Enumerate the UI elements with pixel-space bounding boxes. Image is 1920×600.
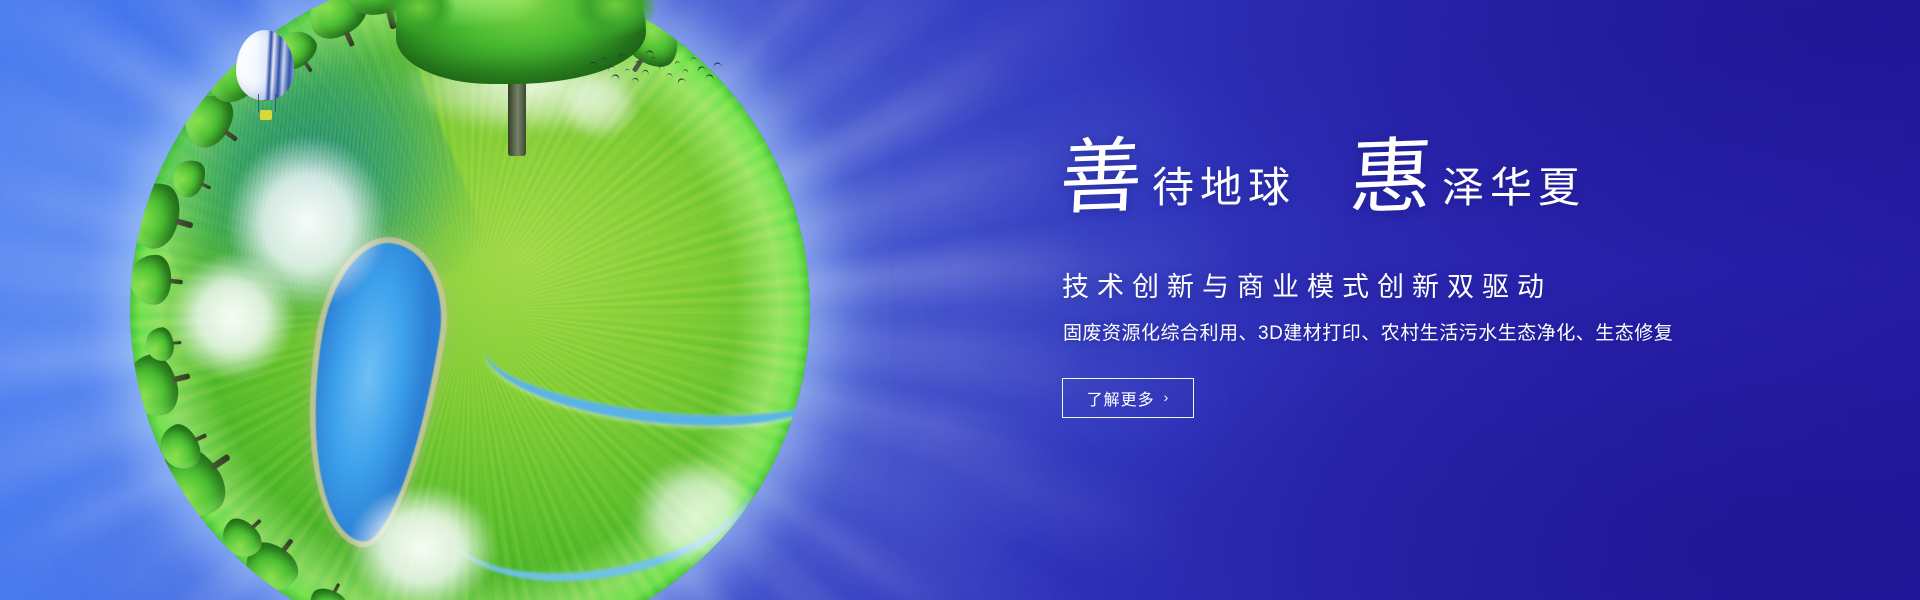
bird-icon bbox=[696, 65, 706, 74]
bird-flock-icon bbox=[588, 48, 718, 88]
bird-icon bbox=[674, 61, 681, 66]
headline-text-1: 待地球 bbox=[1148, 167, 1296, 215]
tree-crown bbox=[130, 253, 174, 307]
hero-subtitle: 技术创新与商业模式创新双驱动 bbox=[1062, 265, 1552, 304]
tree-trunk bbox=[281, 538, 294, 553]
bird-icon bbox=[682, 69, 689, 75]
bird-icon bbox=[617, 53, 626, 61]
chevron-right-icon: › bbox=[1164, 390, 1170, 404]
tree-trunk bbox=[250, 519, 261, 530]
tree-icon bbox=[145, 326, 183, 362]
learn-more-label: 了解更多 bbox=[1087, 386, 1155, 410]
bird-icon bbox=[645, 50, 654, 57]
page-title: 善 待地球 惠 泽华夏 bbox=[1060, 140, 1586, 215]
tree-icon bbox=[130, 253, 185, 308]
headline-text-2: 泽华夏 bbox=[1438, 167, 1586, 215]
bird-icon bbox=[705, 74, 714, 81]
bird-icon bbox=[631, 77, 640, 84]
hero-content: 善 待地球 惠 泽华夏 技术创新与商业模式创新双驱动 固废资源化综合利用、3D建… bbox=[1060, 0, 1880, 600]
headline-char-2: 惠 bbox=[1348, 138, 1440, 216]
hot-air-balloon-icon bbox=[236, 30, 294, 125]
hero-banner: 善 待地球 惠 泽华夏 技术创新与商业模式创新双驱动 固废资源化综合利用、3D建… bbox=[0, 0, 1920, 600]
surface-cloud bbox=[620, 446, 770, 582]
tree-trunk bbox=[172, 341, 182, 345]
bird-icon bbox=[651, 57, 656, 61]
bird-icon bbox=[666, 73, 673, 78]
tree-trunk bbox=[303, 61, 313, 73]
bird-icon bbox=[658, 64, 665, 70]
tree-trunk bbox=[193, 434, 206, 443]
bird-icon bbox=[625, 68, 630, 72]
bird-icon bbox=[690, 57, 696, 62]
hero-description: 固废资源化综合利用、3D建材打印、农村生活污水生态净化、生态修复 bbox=[1063, 318, 1673, 345]
balloon-envelope bbox=[236, 30, 294, 100]
bird-icon bbox=[600, 57, 606, 62]
bird-icon bbox=[607, 65, 616, 73]
bird-icon bbox=[610, 73, 620, 81]
balloon-basket bbox=[260, 110, 272, 120]
tree-trunk bbox=[200, 183, 211, 191]
bird-icon bbox=[635, 60, 640, 64]
tree-trunk bbox=[223, 130, 238, 143]
bird-icon bbox=[641, 69, 650, 76]
bird-icon bbox=[590, 62, 598, 68]
tree-trunk bbox=[343, 30, 354, 47]
bird-icon bbox=[676, 77, 686, 86]
learn-more-button[interactable]: 了解更多 › bbox=[1062, 378, 1194, 418]
tree-crown bbox=[145, 327, 175, 362]
headline-char-1: 善 bbox=[1058, 138, 1150, 216]
